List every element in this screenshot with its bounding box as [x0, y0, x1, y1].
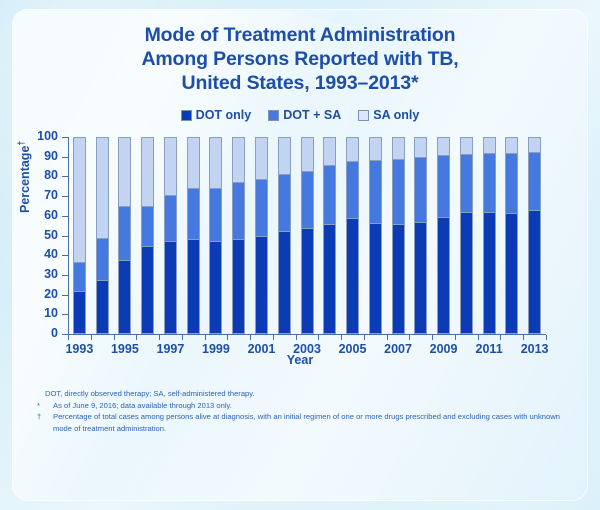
- x-axis-tick-mark: [409, 335, 410, 340]
- bar-segment-dot-only: [460, 212, 473, 334]
- bar-segment-dot-only: [164, 241, 177, 334]
- footnote-dagger-marker: †: [45, 411, 53, 423]
- chart-legend: DOT only DOT + SA SA only: [12, 108, 588, 122]
- x-axis-tick-label: 2001: [238, 342, 284, 356]
- bar-segment-sa-only: [96, 137, 109, 238]
- footnote-star-marker: *: [45, 400, 53, 412]
- bar-segment-sa-only: [346, 137, 359, 161]
- bar-column: [414, 137, 427, 334]
- bar-segment-sa-only: [164, 137, 177, 195]
- bar-segment-sa-only: [255, 137, 268, 179]
- y-axis-tick-label: 20: [16, 287, 58, 301]
- bar-segment-sa-only: [528, 137, 541, 152]
- bar-column: [392, 137, 405, 334]
- bar-segment-dot-sa: [505, 153, 518, 213]
- plot-area: Percentage† Year 1009080706050403020100 …: [12, 121, 588, 381]
- bar-segment-dot-sa: [323, 165, 336, 224]
- bar-segment-dot-sa: [392, 159, 405, 224]
- bar-column: [323, 137, 336, 334]
- bar-column: [209, 137, 222, 334]
- x-axis-tick-label: 1997: [147, 342, 193, 356]
- bar-segment-sa-only: [187, 137, 200, 188]
- bar-segment-dot-only: [255, 236, 268, 335]
- x-axis-tick-mark: [159, 335, 160, 340]
- bar-segment-dot-only: [346, 218, 359, 334]
- bars-layer: [68, 137, 546, 334]
- x-axis-tick-mark: [318, 335, 319, 340]
- bar-segment-dot-only: [483, 212, 496, 334]
- chart-title: Mode of Treatment Administration Among P…: [12, 23, 588, 95]
- bar-segment-sa-only: [232, 137, 245, 182]
- bar-segment-sa-only: [460, 137, 473, 154]
- bar-segment-dot-sa: [187, 188, 200, 239]
- bar-column: [437, 137, 450, 334]
- x-axis-tick-mark: [432, 335, 433, 340]
- bar-segment-sa-only: [414, 137, 427, 157]
- bar-column: [346, 137, 359, 334]
- bar-segment-sa-only: [483, 137, 496, 153]
- bar-segment-dot-sa: [141, 206, 154, 246]
- x-axis-tick-mark: [227, 335, 228, 340]
- bar-segment-dot-only: [96, 280, 109, 334]
- footnote-star: *As of June 9, 2016; data available thro…: [45, 400, 565, 412]
- legend-label-dot-only: DOT only: [196, 108, 252, 122]
- bar-segment-sa-only: [437, 137, 450, 155]
- bar-segment-dot-sa: [460, 154, 473, 212]
- bar-segment-sa-only: [505, 137, 518, 153]
- x-axis-tick-mark: [136, 335, 137, 340]
- legend-swatch-sa-only: [358, 110, 369, 121]
- bar-segment-sa-only: [141, 137, 154, 206]
- bar-segment-dot-only: [437, 217, 450, 334]
- chart-title-line-2: Among Persons Reported with TB,: [12, 47, 588, 71]
- bar-segment-dot-sa: [164, 195, 177, 241]
- y-axis-tick-label: 100: [16, 129, 58, 143]
- legend-label-sa-only: SA only: [373, 108, 419, 122]
- bar-segment-sa-only: [209, 137, 222, 188]
- bar-segment-dot-sa: [232, 182, 245, 239]
- bar-segment-dot-only: [278, 231, 291, 334]
- legend-label-dot-plus-sa: DOT + SA: [283, 108, 341, 122]
- bar-column: [301, 137, 314, 334]
- bar-segment-dot-sa: [209, 188, 222, 241]
- legend-item-dot-plus-sa: DOT + SA: [268, 108, 341, 122]
- bar-segment-dot-only: [369, 223, 382, 334]
- x-axis-tick-mark: [455, 335, 456, 340]
- bar-segment-dot-sa: [255, 179, 268, 235]
- footnote-dagger-text: Percentage of total cases among persons …: [53, 412, 560, 433]
- x-axis-tick-mark: [250, 335, 251, 340]
- bar-segment-dot-only: [323, 224, 336, 334]
- bar-column: [96, 137, 109, 334]
- bar-segment-dot-sa: [346, 161, 359, 218]
- bar-segment-dot-sa: [301, 171, 314, 228]
- bar-column: [187, 137, 200, 334]
- footnote-star-text: As of June 9, 2016; data available throu…: [53, 401, 232, 410]
- bar-segment-dot-sa: [118, 206, 131, 260]
- legend-swatch-dot-plus-sa: [268, 110, 279, 121]
- bar-segment-dot-only: [73, 291, 86, 334]
- bar-segment-dot-sa: [369, 160, 382, 223]
- x-axis-tick-mark: [546, 335, 547, 340]
- x-axis-tick-mark: [182, 335, 183, 340]
- x-axis-tick-label: 2013: [512, 342, 558, 356]
- bar-column: [505, 137, 518, 334]
- bar-column: [118, 137, 131, 334]
- bar-segment-sa-only: [369, 137, 382, 160]
- slide-background: Mode of Treatment Administration Among P…: [0, 0, 600, 510]
- x-axis-tick-label: 1993: [56, 342, 102, 356]
- bar-segment-dot-sa: [528, 152, 541, 210]
- bar-segment-dot-sa: [483, 153, 496, 212]
- chart-title-line-1: Mode of Treatment Administration: [12, 23, 588, 47]
- x-axis-tick-mark: [523, 335, 524, 340]
- bar-column: [232, 137, 245, 334]
- bar-segment-sa-only: [392, 137, 405, 159]
- bar-segment-sa-only: [118, 137, 131, 206]
- x-axis-line: [68, 334, 546, 335]
- bar-column: [73, 137, 86, 334]
- bar-column: [528, 137, 541, 334]
- bar-column: [460, 137, 473, 334]
- bar-segment-dot-sa: [414, 157, 427, 222]
- bar-segment-dot-only: [505, 213, 518, 334]
- bar-segment-dot-only: [209, 241, 222, 334]
- bar-column: [483, 137, 496, 334]
- y-axis-tick-label: 80: [16, 168, 58, 182]
- x-axis-tick-mark: [273, 335, 274, 340]
- footnote-dagger: †Percentage of total cases among persons…: [45, 411, 565, 434]
- bar-segment-dot-only: [528, 210, 541, 334]
- x-axis-tick-label: 2007: [375, 342, 421, 356]
- bar-segment-dot-only: [414, 222, 427, 334]
- y-axis-tick-label: 90: [16, 149, 58, 163]
- x-axis-tick-label: 1999: [193, 342, 239, 356]
- bar-segment-sa-only: [73, 137, 86, 262]
- bar-segment-dot-sa: [437, 155, 450, 217]
- y-axis-tick-label: 30: [16, 267, 58, 281]
- bar-segment-dot-sa: [73, 262, 86, 291]
- bar-segment-dot-only: [141, 246, 154, 334]
- x-axis-tick-mark: [68, 335, 69, 340]
- bar-segment-dot-only: [187, 239, 200, 334]
- x-axis-tick-mark: [364, 335, 365, 340]
- y-axis-tick-label: 10: [16, 306, 58, 320]
- y-axis-tick-label: 0: [16, 326, 58, 340]
- x-axis-tick-mark: [478, 335, 479, 340]
- chart-title-line-3: United States, 1993–2013*: [12, 71, 588, 95]
- x-axis-tick-label: 2005: [330, 342, 376, 356]
- x-axis-tick-label: 2009: [421, 342, 467, 356]
- bar-segment-sa-only: [301, 137, 314, 170]
- x-axis-tick-label: 2011: [466, 342, 512, 356]
- bar-column: [141, 137, 154, 334]
- x-axis-tick-mark: [91, 335, 92, 340]
- x-axis-tick-label: 2003: [284, 342, 330, 356]
- x-axis-tick-mark: [296, 335, 297, 340]
- y-axis-tick-label: 70: [16, 188, 58, 202]
- chart-card: Mode of Treatment Administration Among P…: [12, 9, 588, 501]
- footnotes: DOT, directly observed therapy; SA, self…: [45, 388, 565, 434]
- bar-segment-dot-only: [118, 260, 131, 334]
- legend-item-sa-only: SA only: [358, 108, 419, 122]
- x-axis-tick-mark: [205, 335, 206, 340]
- legend-swatch-dot-only: [181, 110, 192, 121]
- bar-segment-dot-only: [232, 239, 245, 334]
- y-axis-tick-label: 40: [16, 247, 58, 261]
- footnote-abbreviations: DOT, directly observed therapy; SA, self…: [45, 388, 565, 400]
- bar-segment-dot-sa: [96, 238, 109, 279]
- bar-segment-dot-only: [301, 228, 314, 334]
- y-axis-tick-label: 60: [16, 208, 58, 222]
- bar-column: [164, 137, 177, 334]
- x-axis-tick-mark: [341, 335, 342, 340]
- bar-segment-dot-only: [392, 224, 405, 334]
- x-axis-tick-mark: [387, 335, 388, 340]
- y-axis-tick-label: 50: [16, 228, 58, 242]
- x-axis-tick-mark: [500, 335, 501, 340]
- bar-column: [369, 137, 382, 334]
- bar-segment-dot-sa: [278, 174, 291, 230]
- bar-column: [278, 137, 291, 334]
- legend-item-dot-only: DOT only: [181, 108, 252, 122]
- bar-segment-sa-only: [278, 137, 291, 174]
- x-axis-tick-label: 1995: [102, 342, 148, 356]
- bar-segment-sa-only: [323, 137, 336, 165]
- x-axis-tick-mark: [114, 335, 115, 340]
- bar-column: [255, 137, 268, 334]
